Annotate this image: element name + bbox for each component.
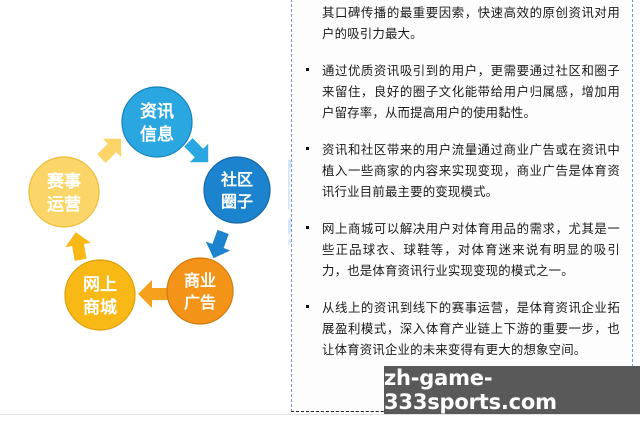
bullet-item-2: 通过优质资讯吸引到的用户，更需要通过社区和圈子来留住，良好的圈子文化能带给用户归… [302,60,620,123]
bullet-item-4: 网上商城可以解决用户对体育用品的需求，尤其是一些正品球衣、球鞋等，对体育迷来说有… [302,218,620,281]
node-events[interactable]: 赛事 运营 [29,157,99,227]
bullet-text-1: 资讯信息是体育资讯行业的核心，是常用户、吸引及其口碑传播的最重要因索，快速高效的… [322,0,620,41]
bottom-strip [0,414,640,427]
bullet-item-1: 资讯信息是体育资讯行业的核心，是常用户、吸引及其口碑传播的最重要因索，快速高效的… [302,0,620,44]
screenshot-canvas: 变现 驱动 行业分析 [0,0,640,427]
bullet-dot-icon [306,305,309,308]
text-panel: 资讯信息是体育资讯行业的核心，是常用户、吸引及其口碑传播的最重要因索，快速高效的… [291,0,633,412]
node-ads-label-2: 广告 [184,293,216,312]
bullet-list: 资讯信息是体育资讯行业的核心，是常用户、吸引及其口碑传播的最重要因索，快速高效的… [302,0,620,360]
node-ads[interactable]: 商业 广告 [167,258,233,324]
node-news[interactable]: 资讯 信息 [122,87,192,157]
bullet-text-2: 通过优质资讯吸引到的用户，更需要通过社区和圈子来留住，良好的圈子文化能带给用户归… [322,63,620,120]
bullet-text-4: 网上商城可以解决用户对体育用品的需求，尤其是一些正品球衣、球鞋等，对体育迷来说有… [322,221,620,278]
node-community-label-1: 社区 [220,170,253,189]
bullet-dot-icon [306,147,309,150]
node-news-label-1: 资讯 [140,101,174,122]
bullet-item-3: 资讯和社区带来的用户流量通过商业广告或在资讯中植入一些商家的内容来实现变现，商业… [302,139,620,202]
arrow-community-to-ads [201,227,235,262]
node-mall-label-2: 商城 [83,297,117,318]
arrow-ads-to-mall [138,280,168,308]
arrow-mall-to-events [63,230,93,262]
bullet-text-5: 从线上的资讯到线下的赛事运营，是体育资讯企业拓展盈利模式，深入体育产业链上下游的… [322,300,620,357]
node-mall[interactable]: 网上 商城 [65,260,135,330]
url-watermark: zh-game-333sports.com [384,366,640,414]
node-news-label-2: 信息 [140,124,174,145]
bullet-dot-icon [306,68,309,71]
cycle-diagram: 资讯 信息 社区 圈子 商业 广告 网上 商城 [0,0,288,427]
node-community[interactable]: 社区 圈子 [204,157,270,223]
bullet-item-5: 从线上的资讯到线下的赛事运营，是体育资讯企业拓展盈利模式，深入体育产业链上下游的… [302,297,620,360]
node-mall-label-1: 网上 [83,275,117,295]
cycle-diagram-svg: 资讯 信息 社区 圈子 商业 广告 网上 商城 [0,0,288,427]
node-events-label-2: 运营 [47,194,81,215]
node-community-label-2: 圈子 [221,192,253,211]
bullet-text-3: 资讯和社区带来的用户流量通过商业广告或在资讯中植入一些商家的内容来实现变现，商业… [322,142,620,199]
node-events-label-1: 赛事 [46,171,81,192]
node-ads-label-1: 商业 [184,271,216,290]
bullet-dot-icon [306,226,309,229]
url-watermark-text: zh-game-333sports.com [384,366,640,414]
